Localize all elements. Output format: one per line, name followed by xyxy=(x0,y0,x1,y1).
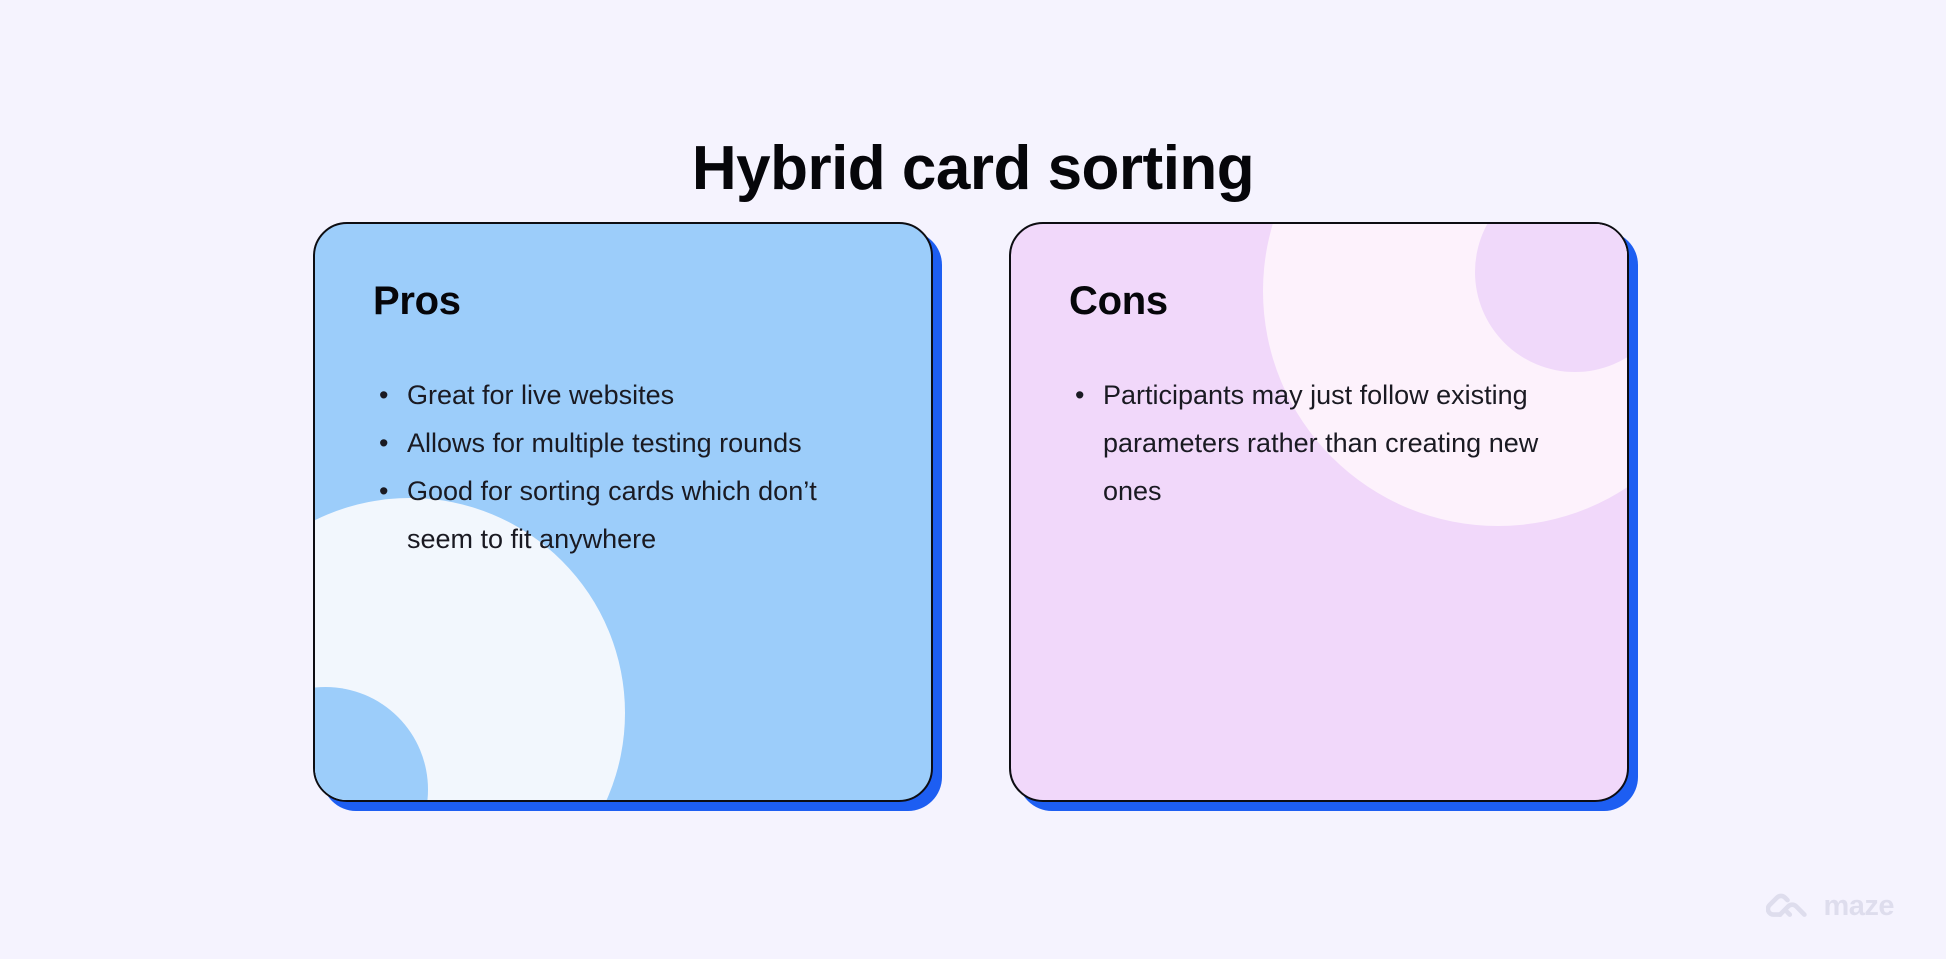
list-item: • Great for live websites xyxy=(373,371,885,419)
maze-branding: maze xyxy=(1766,891,1894,921)
cons-card-wrapper: Cons • Participants may just follow exis… xyxy=(1009,222,1629,802)
list-item: • Good for sorting cards which don’t see… xyxy=(373,467,885,563)
list-item-text: Great for live websites xyxy=(407,380,674,410)
page-title: Hybrid card sorting xyxy=(0,135,1946,203)
list-item: • Participants may just follow existing … xyxy=(1069,371,1581,515)
cons-card-body: Cons • Participants may just follow exis… xyxy=(1011,224,1627,515)
bullet-marker-icon: • xyxy=(379,419,388,467)
cards-row: Pros • Great for live websites • Allows … xyxy=(313,222,1643,822)
slide-root: Hybrid card sorting Pros • Great for liv… xyxy=(0,0,1946,959)
bullet-marker-icon: • xyxy=(379,467,388,515)
list-item-text: Participants may just follow existing pa… xyxy=(1103,380,1538,506)
list-item-text: Good for sorting cards which don’t seem … xyxy=(407,476,817,554)
list-item: • Allows for multiple testing rounds xyxy=(373,419,885,467)
cons-bullet-list: • Participants may just follow existing … xyxy=(1069,371,1581,515)
cons-card-heading: Cons xyxy=(1069,279,1581,323)
pros-card: Pros • Great for live websites • Allows … xyxy=(313,222,933,802)
pros-card-wrapper: Pros • Great for live websites • Allows … xyxy=(313,222,933,802)
list-item-text: Allows for multiple testing rounds xyxy=(407,428,802,458)
cons-card: Cons • Participants may just follow exis… xyxy=(1009,222,1629,802)
pros-card-body: Pros • Great for live websites • Allows … xyxy=(315,224,931,563)
bullet-marker-icon: • xyxy=(379,371,388,419)
pros-decorative-circle-inner xyxy=(313,687,428,802)
maze-wordmark: maze xyxy=(1823,892,1894,921)
pros-card-heading: Pros xyxy=(373,279,885,323)
pros-bullet-list: • Great for live websites • Allows for m… xyxy=(373,371,885,563)
bullet-marker-icon: • xyxy=(1075,371,1084,419)
maze-logo-icon xyxy=(1766,891,1812,921)
